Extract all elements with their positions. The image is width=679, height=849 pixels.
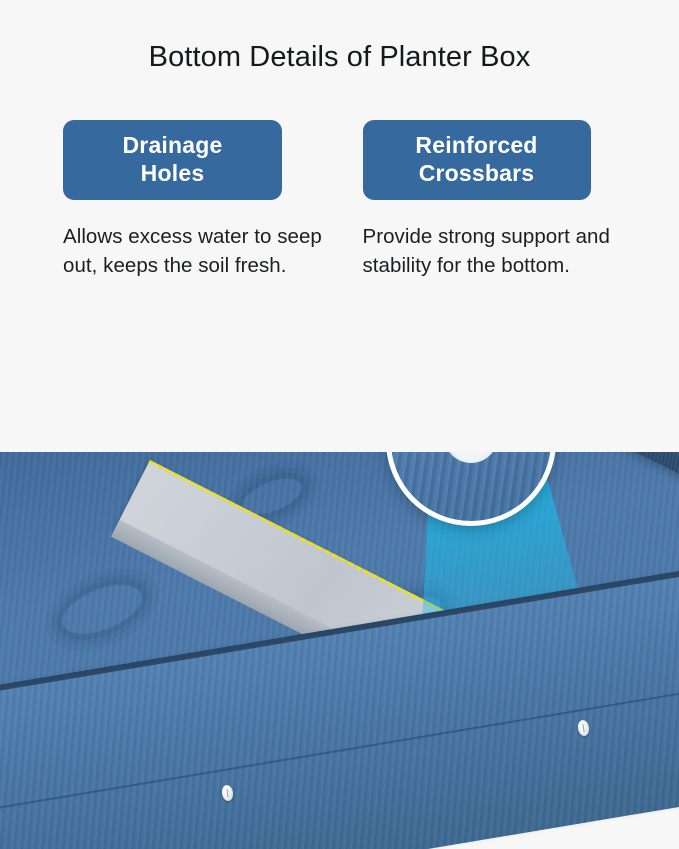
feature-column-reinforced-crossbars: Reinforced Crossbars Provide strong supp… [340, 120, 654, 280]
badge-reinforced-crossbars: Reinforced Crossbars [363, 120, 591, 200]
description-reinforced-crossbars: Provide strong support and stability for… [363, 222, 654, 280]
description-drainage-holes: Allows excess water to seep out, keeps t… [63, 222, 340, 280]
page-title: Bottom Details of Planter Box [0, 40, 679, 75]
wood-knot [56, 573, 147, 646]
photo-inner [0, 452, 679, 849]
badge-drainage-holes: Drainage Holes [63, 120, 282, 200]
feature-column-drainage-holes: Drainage Holes Allows excess water to se… [26, 120, 340, 280]
magnified-drainage-hole [444, 452, 498, 463]
feature-columns: Drainage Holes Allows excess water to se… [0, 120, 679, 280]
product-photo [0, 452, 679, 849]
infographic-root: Bottom Details of Planter Box Drainage H… [0, 0, 679, 849]
